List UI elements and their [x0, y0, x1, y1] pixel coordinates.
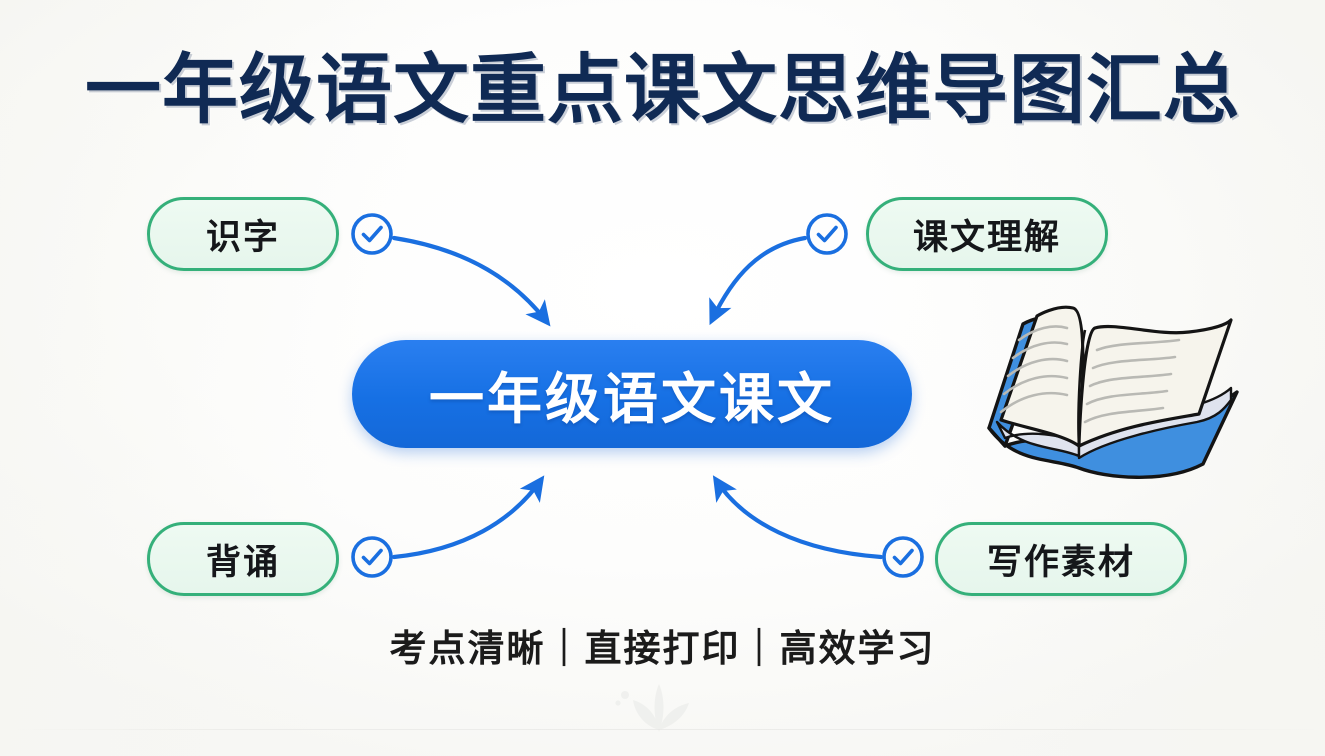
- center-node-label: 一年级语文课文: [429, 354, 835, 434]
- branch-node-label: 背诵: [206, 534, 280, 585]
- branch-node-label: 课文理解: [913, 209, 1061, 260]
- branch-node-kewenlijie[interactable]: 课文理解: [866, 197, 1108, 271]
- leaf-watermark-icon: [603, 676, 723, 738]
- check-circle-icon[interactable]: [805, 212, 849, 256]
- check-circle-icon[interactable]: [350, 212, 394, 256]
- branch-node-beisong[interactable]: 背诵: [147, 522, 339, 596]
- tagline: 考点清晰｜直接打印｜高效学习: [0, 618, 1325, 672]
- center-node[interactable]: 一年级语文课文: [352, 340, 912, 448]
- open-book-icon: [975, 288, 1265, 488]
- connector-top-left: [394, 238, 547, 322]
- branch-node-shizi[interactable]: 识字: [147, 197, 339, 271]
- page-title: 一年级语文重点课文思维导图汇总: [0, 52, 1325, 128]
- check-circle-icon[interactable]: [350, 535, 394, 579]
- poster-canvas: 一年级语文重点课文思维导图汇总 识字 课文理解 背诵: [0, 0, 1325, 756]
- connector-bottom-left: [394, 480, 541, 557]
- connector-top-right: [712, 238, 805, 320]
- connector-bottom-right: [716, 480, 881, 557]
- branch-node-label: 写作素材: [987, 534, 1135, 585]
- branch-node-label: 识字: [206, 209, 280, 260]
- branch-node-xiezuosucai[interactable]: 写作素材: [935, 522, 1187, 596]
- check-circle-icon[interactable]: [881, 535, 925, 579]
